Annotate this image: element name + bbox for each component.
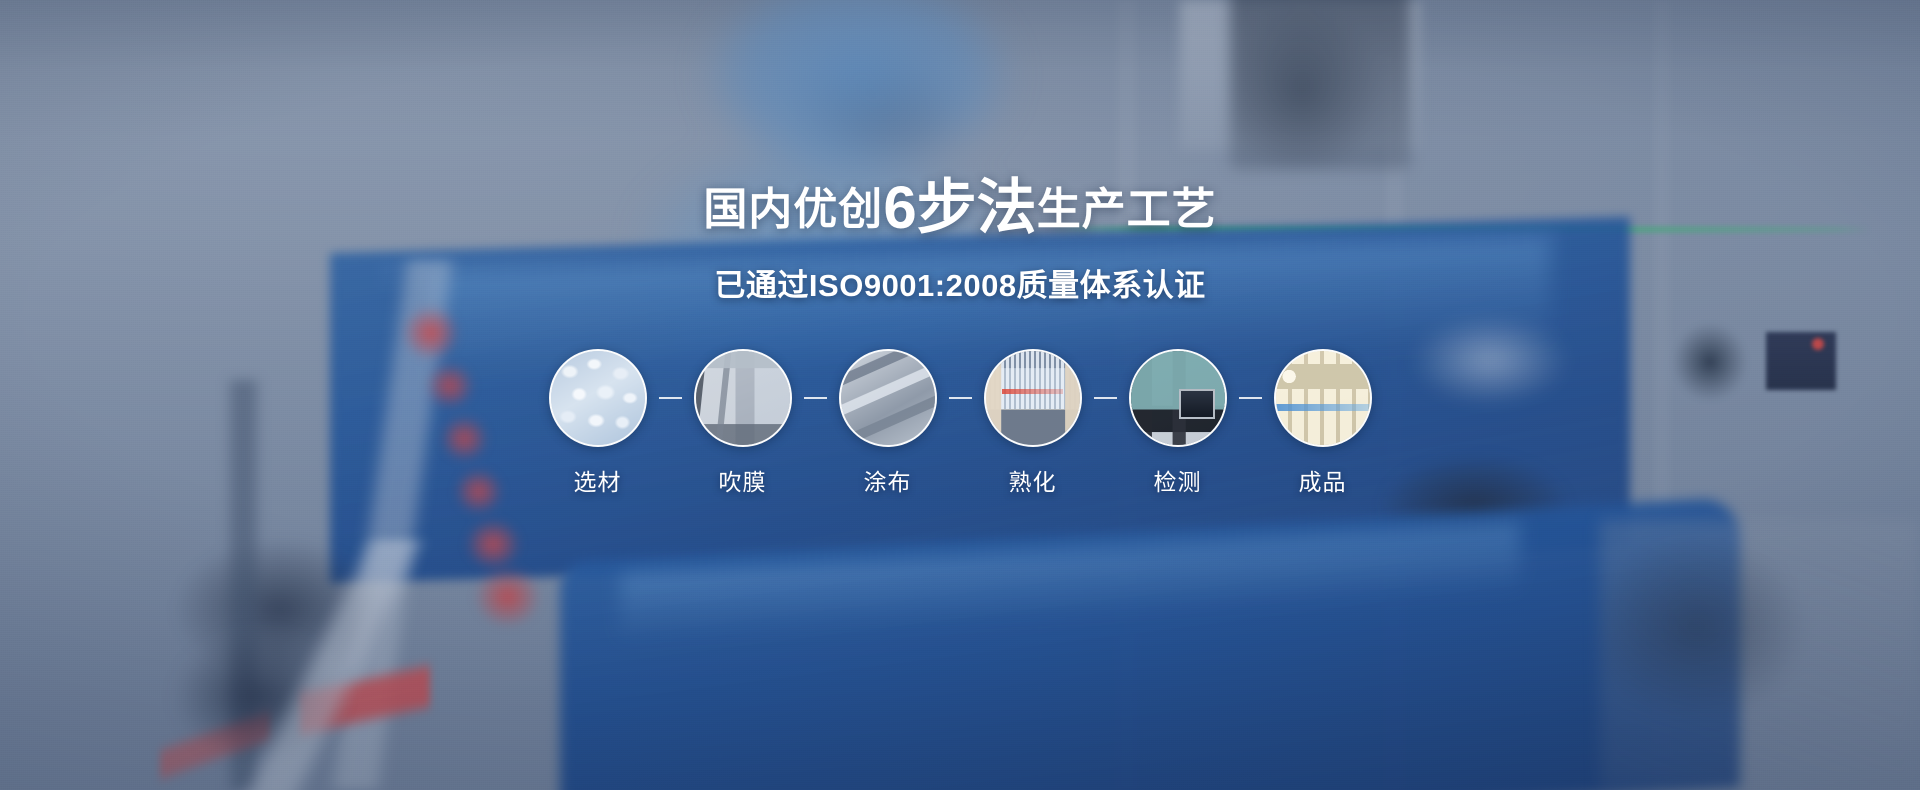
- step-thumbnail-3[interactable]: [839, 349, 937, 447]
- step-thumbnail-1[interactable]: [549, 349, 647, 447]
- resin-pellets-icon: [551, 351, 645, 445]
- process-banner: 国内优创6步法生产工艺 已通过ISO9001:2008质量体系认证 选材 吹膜: [0, 0, 1920, 790]
- film-blowing-line-icon: [696, 351, 790, 445]
- step-connector-3: [949, 349, 972, 447]
- step-thumbnail-5[interactable]: [1129, 349, 1227, 447]
- step-label-1: 选材: [574, 463, 622, 497]
- step-connector-5: [1239, 349, 1262, 447]
- step-connector-4: [1094, 349, 1117, 447]
- process-step-5[interactable]: 检测: [1117, 349, 1239, 497]
- testing-equipment-icon: [1131, 351, 1225, 445]
- headline-emphasis: 6步法: [883, 174, 1036, 241]
- banner-content: 国内优创6步法生产工艺 已通过ISO9001:2008质量体系认证 选材 吹膜: [0, 0, 1920, 790]
- step-thumbnail-6[interactable]: [1274, 349, 1372, 447]
- banner-headline: 国内优创6步法生产工艺: [703, 178, 1216, 238]
- process-step-3[interactable]: 涂布: [827, 349, 949, 497]
- step-thumbnail-2[interactable]: [694, 349, 792, 447]
- step-label-3: 涂布: [864, 463, 912, 497]
- curing-room-icon: [986, 351, 1080, 445]
- headline-lead: 国内优创: [703, 185, 883, 234]
- banner-subtitle: 已通过ISO9001:2008质量体系认证: [714, 260, 1205, 305]
- step-label-4: 熟化: [1009, 463, 1057, 497]
- step-label-5: 检测: [1154, 463, 1202, 497]
- process-step-1[interactable]: 选材: [537, 349, 659, 497]
- headline-tail: 生产工艺: [1037, 185, 1217, 234]
- finished-rolls-icon: [1276, 351, 1370, 445]
- step-connector-1: [659, 349, 682, 447]
- step-connector-2: [804, 349, 827, 447]
- step-label-2: 吹膜: [719, 463, 767, 497]
- process-step-4[interactable]: 熟化: [972, 349, 1094, 497]
- process-step-flow: 选材 吹膜 涂布 熟化: [537, 349, 1384, 497]
- step-label-6: 成品: [1299, 463, 1347, 497]
- process-step-6[interactable]: 成品: [1262, 349, 1384, 497]
- step-thumbnail-4[interactable]: [984, 349, 1082, 447]
- process-step-2[interactable]: 吹膜: [682, 349, 804, 497]
- coating-rollers-icon: [841, 351, 935, 445]
